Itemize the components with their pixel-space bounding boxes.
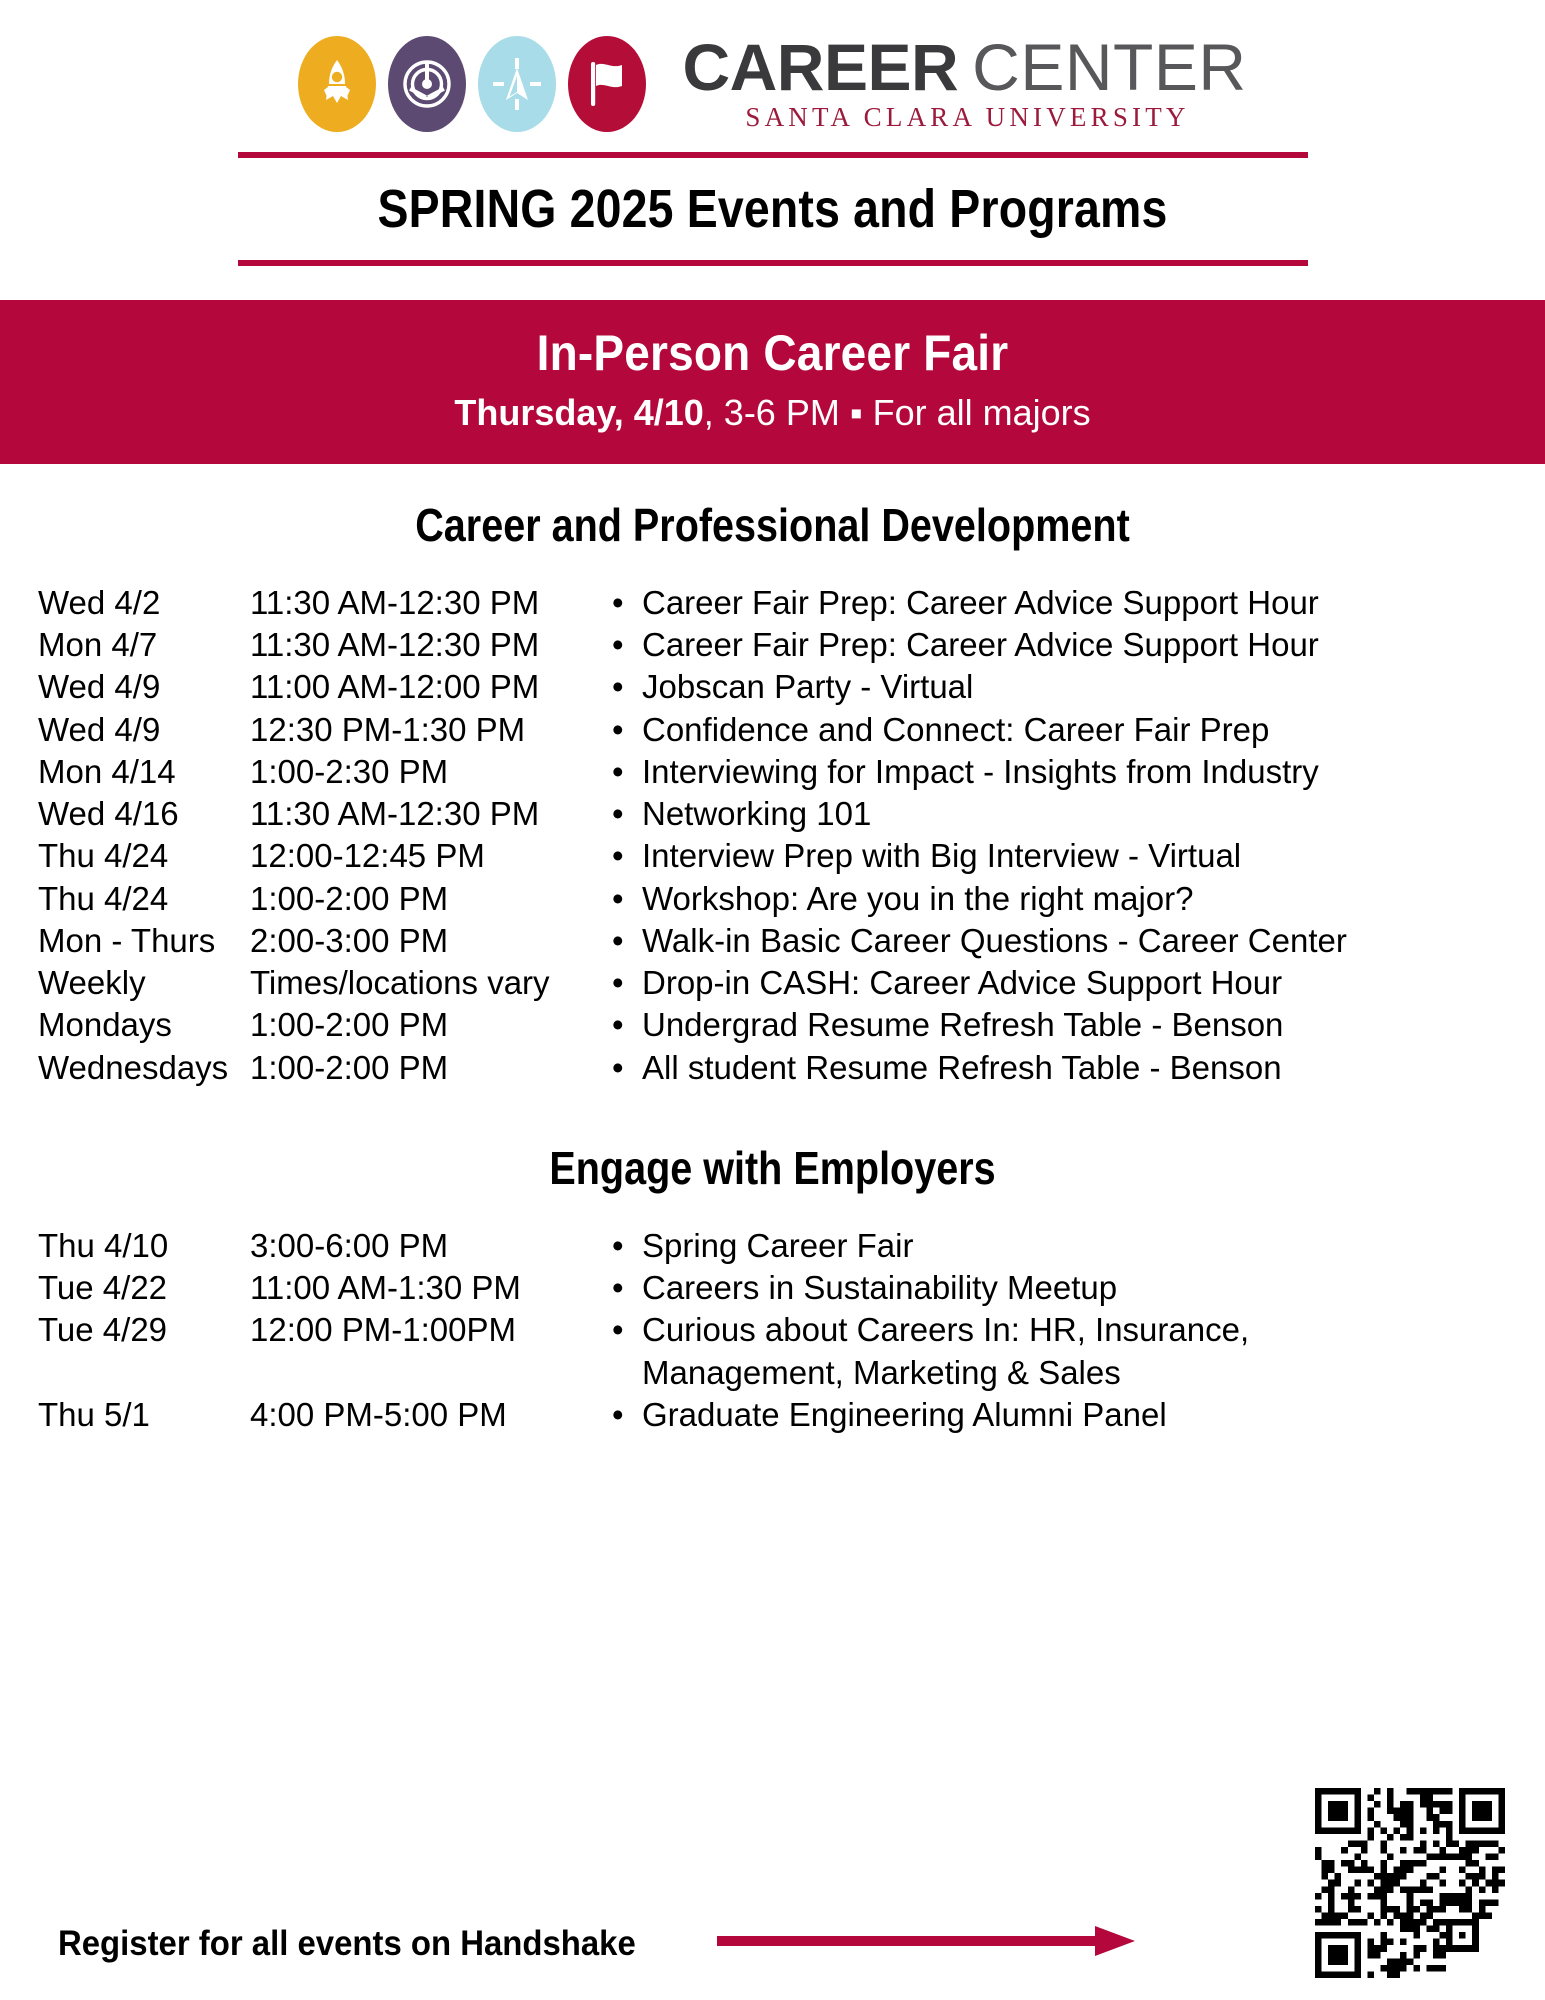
event-row: Wed 4/911:00 AM-12:00 PM•Jobscan Party -…	[0, 666, 1545, 708]
bullet-icon: •	[612, 751, 642, 793]
event-title: Jobscan Party - Virtual	[642, 666, 1545, 708]
logo-header: CAREER CENTER SANTA CLARA UNIVERSITY	[0, 0, 1545, 140]
bullet-icon: •	[612, 709, 642, 751]
event-row: Wednesdays1:00-2:00 PM•All student Resum…	[0, 1047, 1545, 1089]
event-title: Workshop: Are you in the right major?	[642, 878, 1545, 920]
event-title-cell: •Confidence and Connect: Career Fair Pre…	[590, 709, 1545, 751]
event-title: Interviewing for Impact - Insights from …	[642, 751, 1545, 793]
bullet-icon: •	[612, 1309, 642, 1351]
bullet-icon: •	[612, 582, 642, 624]
event-title-cell: •Walk-in Basic Career Questions - Career…	[590, 920, 1545, 962]
event-title: Undergrad Resume Refresh Table - Benson	[642, 1004, 1545, 1046]
qr-code[interactable]	[1315, 1788, 1505, 1978]
logo-wordmark: CAREER CENTER SANTA CLARA UNIVERSITY	[682, 35, 1246, 133]
event-day: Thu 4/24	[0, 835, 250, 877]
event-title-line: Jobscan Party - Virtual	[642, 666, 1545, 708]
compass-icon	[478, 36, 556, 132]
event-day: Weekly	[0, 962, 250, 1004]
event-title-line: Career Fair Prep: Career Advice Support …	[642, 582, 1545, 624]
event-title: All student Resume Refresh Table - Benso…	[642, 1047, 1545, 1089]
bullet-icon: •	[612, 1394, 642, 1436]
event-row: Mon - Thurs2:00-3:00 PM•Walk-in Basic Ca…	[0, 920, 1545, 962]
event-title-cell: •Undergrad Resume Refresh Table - Benson	[590, 1004, 1545, 1046]
event-title: Career Fair Prep: Career Advice Support …	[642, 582, 1545, 624]
event-time: Times/locations vary	[250, 962, 590, 1004]
event-time: 1:00-2:30 PM	[250, 751, 590, 793]
event-day: Mondays	[0, 1004, 250, 1046]
event-title: Curious about Careers In: HR, Insurance,…	[642, 1309, 1545, 1393]
event-title: Interview Prep with Big Interview - Virt…	[642, 835, 1545, 877]
event-time: 4:00 PM-5:00 PM	[250, 1394, 590, 1436]
event-row: Thu 4/103:00-6:00 PM•Spring Career Fair	[0, 1225, 1545, 1267]
bullet-icon: •	[612, 835, 642, 877]
logo-word-career: CAREER	[682, 35, 958, 100]
event-title-line: Undergrad Resume Refresh Table - Benson	[642, 1004, 1545, 1046]
event-time: 12:00 PM-1:00PM	[250, 1309, 590, 1351]
bullet-icon: •	[612, 920, 642, 962]
page-title: SPRING 2025 Events and Programs	[108, 158, 1437, 254]
event-title-cell: •Curious about Careers In: HR, Insurance…	[590, 1309, 1545, 1393]
event-day: Thu 4/24	[0, 878, 250, 920]
event-title-line: Graduate Engineering Alumni Panel	[642, 1394, 1545, 1436]
event-day: Mon - Thurs	[0, 920, 250, 962]
rocket-icon	[298, 36, 376, 132]
event-day: Wed 4/16	[0, 793, 250, 835]
arrow-right-icon	[717, 1921, 1137, 1966]
logo-icon-group	[298, 36, 646, 132]
event-row: Mon 4/141:00-2:30 PM•Interviewing for Im…	[0, 751, 1545, 793]
event-title: Graduate Engineering Alumni Panel	[642, 1394, 1545, 1436]
event-day: Thu 5/1	[0, 1394, 250, 1436]
logo-subtitle: SANTA CLARA UNIVERSITY	[682, 102, 1246, 133]
banner-title: In-Person Career Fair	[62, 324, 1483, 382]
event-row: Tue 4/2912:00 PM-1:00PM•Curious about Ca…	[0, 1309, 1545, 1393]
event-title-line: Drop-in CASH: Career Advice Support Hour	[642, 962, 1545, 1004]
event-time: 3:00-6:00 PM	[250, 1225, 590, 1267]
event-title-line: Walk-in Basic Career Questions - Career …	[642, 920, 1545, 962]
event-day: Tue 4/29	[0, 1309, 250, 1351]
event-row: Thu 5/14:00 PM-5:00 PM•Graduate Engineer…	[0, 1394, 1545, 1436]
banner-date: Thursday, 4/10	[454, 392, 703, 433]
bullet-icon: •	[612, 666, 642, 708]
footer: Register for all events on Handshake	[0, 1921, 1545, 1966]
event-time: 1:00-2:00 PM	[250, 1004, 590, 1046]
steering-wheel-icon	[388, 36, 466, 132]
event-day: Tue 4/22	[0, 1267, 250, 1309]
event-title-line: Spring Career Fair	[642, 1225, 1545, 1267]
event-title-cell: •Networking 101	[590, 793, 1545, 835]
bullet-icon: •	[612, 1225, 642, 1267]
event-day: Wed 4/9	[0, 666, 250, 708]
bullet-icon: •	[612, 962, 642, 1004]
career-fair-banner: In-Person Career Fair Thursday, 4/10, 3-…	[0, 300, 1545, 464]
event-day: Mon 4/14	[0, 751, 250, 793]
section-heading-career-development: Career and Professional Development	[108, 498, 1437, 552]
event-title-line: Networking 101	[642, 793, 1545, 835]
event-title-line: Workshop: Are you in the right major?	[642, 878, 1545, 920]
event-title: Confidence and Connect: Career Fair Prep	[642, 709, 1545, 751]
event-row: Wed 4/1611:30 AM-12:30 PM•Networking 101	[0, 793, 1545, 835]
event-time: 11:30 AM-12:30 PM	[250, 624, 590, 666]
event-time: 1:00-2:00 PM	[250, 878, 590, 920]
event-title-line: Curious about Careers In: HR, Insurance,	[642, 1309, 1545, 1351]
event-row: Thu 4/2412:00-12:45 PM•Interview Prep wi…	[0, 835, 1545, 877]
event-title-cell: •Jobscan Party - Virtual	[590, 666, 1545, 708]
event-title: Walk-in Basic Career Questions - Career …	[642, 920, 1545, 962]
event-time: 11:30 AM-12:30 PM	[250, 582, 590, 624]
event-day: Wed 4/2	[0, 582, 250, 624]
event-list-career-development: Wed 4/211:30 AM-12:30 PM•Career Fair Pre…	[0, 582, 1545, 1089]
event-title-line: Interview Prep with Big Interview - Virt…	[642, 835, 1545, 877]
event-title-cell: •Career Fair Prep: Career Advice Support…	[590, 582, 1545, 624]
event-title-cell: •Drop-in CASH: Career Advice Support Hou…	[590, 962, 1545, 1004]
event-day: Wednesdays	[0, 1047, 250, 1089]
event-title: Spring Career Fair	[642, 1225, 1545, 1267]
section-heading-engage-employers: Engage with Employers	[108, 1141, 1437, 1195]
event-title: Careers in Sustainability Meetup	[642, 1267, 1545, 1309]
banner-subtitle: Thursday, 4/10, 3-6 PM ▪ For all majors	[0, 392, 1545, 434]
logo-word-center: CENTER	[972, 35, 1246, 100]
register-cta-text: Register for all events on Handshake	[58, 1924, 636, 1964]
event-title-cell: •Career Fair Prep: Career Advice Support…	[590, 624, 1545, 666]
bullet-icon: •	[612, 793, 642, 835]
event-title-line: Confidence and Connect: Career Fair Prep	[642, 709, 1545, 751]
event-title: Drop-in CASH: Career Advice Support Hour	[642, 962, 1545, 1004]
event-title-cell: •All student Resume Refresh Table - Bens…	[590, 1047, 1545, 1089]
event-title: Networking 101	[642, 793, 1545, 835]
event-day: Thu 4/10	[0, 1225, 250, 1267]
event-title-cell: •Spring Career Fair	[590, 1225, 1545, 1267]
event-time: 11:30 AM-12:30 PM	[250, 793, 590, 835]
event-time: 2:00-3:00 PM	[250, 920, 590, 962]
event-row: Wed 4/912:30 PM-1:30 PM•Confidence and C…	[0, 709, 1545, 751]
event-time: 11:00 AM-1:30 PM	[250, 1267, 590, 1309]
event-time: 12:00-12:45 PM	[250, 835, 590, 877]
bullet-icon: •	[612, 1047, 642, 1089]
event-title-cell: •Graduate Engineering Alumni Panel	[590, 1394, 1545, 1436]
event-title-cell: •Interviewing for Impact - Insights from…	[590, 751, 1545, 793]
event-row: Mondays1:00-2:00 PM•Undergrad Resume Ref…	[0, 1004, 1545, 1046]
poster-page: CAREER CENTER SANTA CLARA UNIVERSITY SPR…	[0, 0, 1545, 2000]
event-list-engage-employers: Thu 4/103:00-6:00 PM•Spring Career FairT…	[0, 1225, 1545, 1436]
event-title-cell: •Workshop: Are you in the right major?	[590, 878, 1545, 920]
banner-detail: , 3-6 PM ▪ For all majors	[704, 392, 1091, 433]
event-title-cell: •Careers in Sustainability Meetup	[590, 1267, 1545, 1309]
bullet-icon: •	[612, 878, 642, 920]
event-title-line-continued: Management, Marketing & Sales	[642, 1352, 1545, 1394]
event-time: 1:00-2:00 PM	[250, 1047, 590, 1089]
event-day: Wed 4/9	[0, 709, 250, 751]
event-title-cell: •Interview Prep with Big Interview - Vir…	[590, 835, 1545, 877]
event-row: Thu 4/241:00-2:00 PM•Workshop: Are you i…	[0, 878, 1545, 920]
event-title-line: Career Fair Prep: Career Advice Support …	[642, 624, 1545, 666]
event-title: Career Fair Prep: Career Advice Support …	[642, 624, 1545, 666]
bullet-icon: •	[612, 624, 642, 666]
event-time: 12:30 PM-1:30 PM	[250, 709, 590, 751]
event-day: Mon 4/7	[0, 624, 250, 666]
bullet-icon: •	[612, 1004, 642, 1046]
event-row: Mon 4/711:30 AM-12:30 PM•Career Fair Pre…	[0, 624, 1545, 666]
event-row: Tue 4/2211:00 AM-1:30 PM•Careers in Sust…	[0, 1267, 1545, 1309]
event-title-line: Interviewing for Impact - Insights from …	[642, 751, 1545, 793]
event-row: WeeklyTimes/locations vary•Drop-in CASH:…	[0, 962, 1545, 1004]
bullet-icon: •	[612, 1267, 642, 1309]
event-title-line: All student Resume Refresh Table - Benso…	[642, 1047, 1545, 1089]
event-time: 11:00 AM-12:00 PM	[250, 666, 590, 708]
event-row: Wed 4/211:30 AM-12:30 PM•Career Fair Pre…	[0, 582, 1545, 624]
title-rule-bottom	[238, 260, 1308, 266]
event-title-line: Careers in Sustainability Meetup	[642, 1267, 1545, 1309]
flag-icon	[568, 36, 646, 132]
